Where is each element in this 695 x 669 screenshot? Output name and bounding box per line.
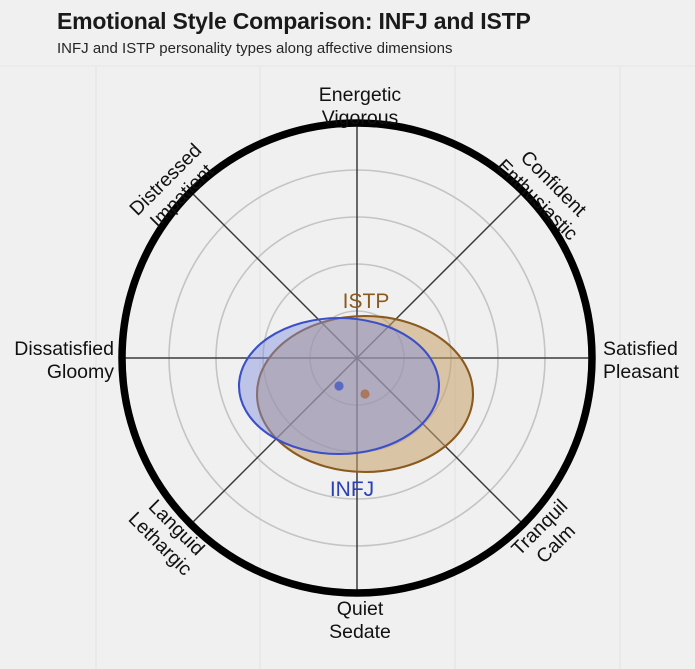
axis-label-east-line1: Satisfied [603, 338, 678, 360]
axis-label-north-line1: Energetic [319, 84, 402, 106]
axis-label-east: Satisfied Pleasant [603, 338, 679, 383]
axis-label-south-line2: Sedate [329, 621, 391, 643]
chart-root: Emotional Style Comparison: INFJ and IST… [0, 0, 695, 669]
istp-series-label: ISTP [343, 290, 390, 313]
axis-label-north: Energetic Vigorous [319, 84, 402, 129]
istp-centroid-dot [360, 389, 369, 398]
axis-label-northeast: Confident Enthusiastic [492, 139, 598, 245]
axis-label-northwest: Distressed Impatient [125, 139, 222, 236]
axis-label-west-line2: Gloomy [47, 361, 114, 383]
axis-label-west-line1: Dissatisfied [14, 338, 114, 360]
axis-label-east-line2: Pleasant [603, 361, 679, 383]
infj-centroid-dot [334, 381, 343, 390]
infj-series-label: INFJ [330, 478, 374, 501]
axis-label-southeast: Tranquil Calm [507, 495, 588, 576]
axis-label-north-line2: Vigorous [322, 107, 399, 129]
axis-label-southwest: Languid Lethargic [124, 492, 213, 581]
axis-label-south: Quiet Sedate [329, 598, 391, 643]
axis-label-south-line1: Quiet [337, 598, 384, 620]
axis-label-west: Dissatisfied Gloomy [14, 338, 114, 383]
circumplex-plot: ISTP INFJ Energetic Vigorous Confident E… [0, 0, 695, 669]
